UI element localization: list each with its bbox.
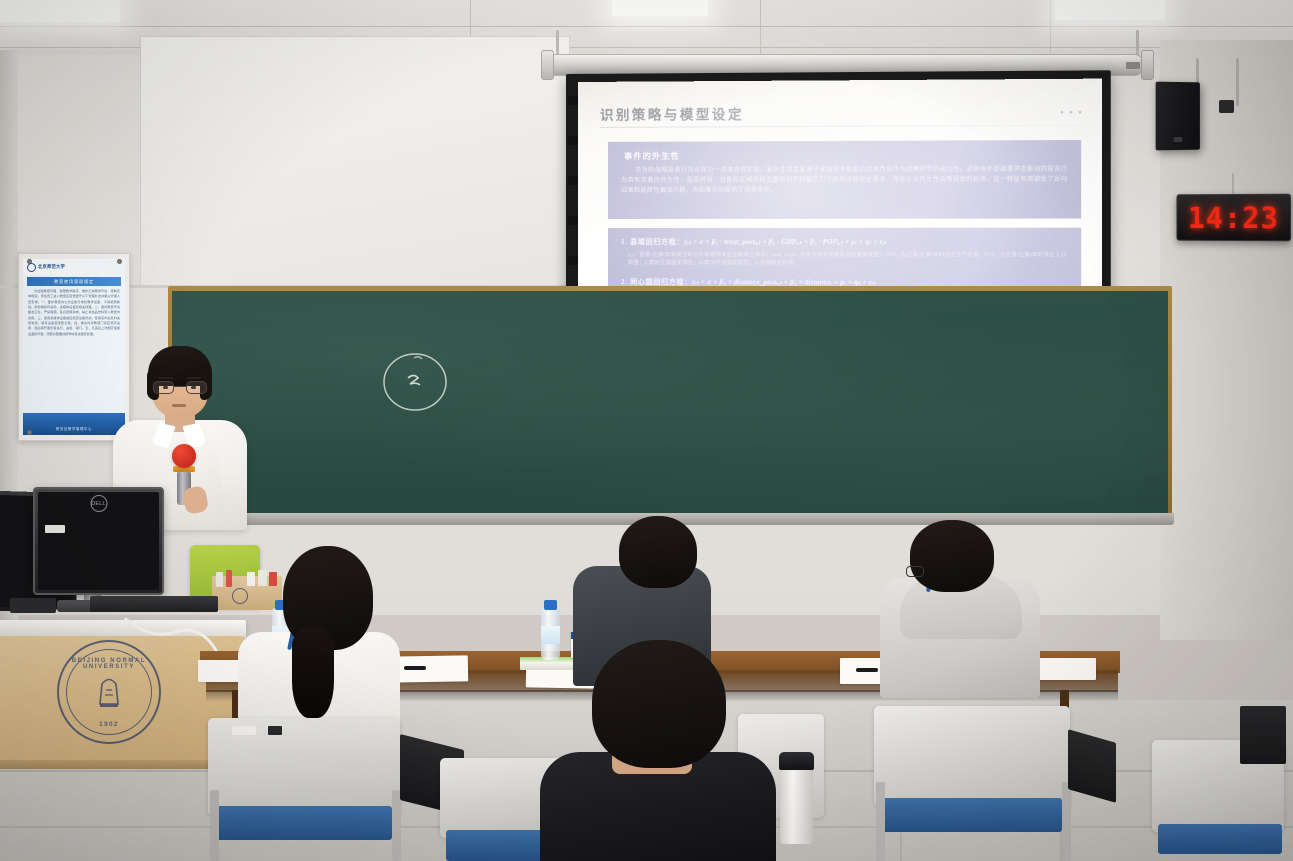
slide-panel-exogeneity: 事件的外生性 华为的战略投资行为可视为一次准自然实验，其外生性主要源于美国技术制… <box>608 140 1081 219</box>
judge-right-glasses-icon <box>906 566 924 577</box>
chair-leg <box>876 782 885 861</box>
microphone-head <box>172 444 196 468</box>
chalkboard <box>172 291 1168 513</box>
wall-clock: 14:23 <box>1176 194 1291 242</box>
panel-a-body: 华为的战略投资行为可视为一次准自然实验，其外生性主要源于美国技术制裁的突发性和华… <box>608 160 1081 196</box>
marker <box>247 572 255 586</box>
equation-1-note: yᵢₜ：县县i在第t年新成立的芯片制造相关企业新成立情况；post_treatᵢ… <box>608 247 1081 268</box>
roller-bracket <box>556 30 559 56</box>
monitor-sticker <box>45 525 65 533</box>
marker <box>226 570 232 587</box>
presenter-glasses <box>153 381 207 394</box>
poster-screw <box>117 259 122 264</box>
bottle-cap <box>544 600 557 610</box>
marker <box>269 572 277 586</box>
title-divider <box>600 125 1085 128</box>
seal-bell-icon <box>92 674 126 710</box>
mouse-pad <box>10 598 56 613</box>
equation-2-line: 2. 同心圆回归方程：yᵢₜ = α + β₁ × distance_postᵢ… <box>608 268 1081 288</box>
speaker-cable <box>1236 58 1239 106</box>
roller-label <box>1126 62 1140 69</box>
poster-footer-text: 教务处教学管理中心 <box>56 426 92 431</box>
slide-title: 识别策略与模型设定 <box>600 101 1085 124</box>
clock-wire <box>1232 173 1234 195</box>
chair-leg <box>392 790 401 861</box>
chair-cushion <box>1158 824 1282 854</box>
poster-logo-row: 北京师范大学 <box>23 259 125 275</box>
student-head <box>592 640 726 768</box>
paper-sheet <box>390 655 468 682</box>
poster-footer: 教务处教学管理中心 <box>23 413 125 435</box>
judge-right-head <box>910 520 994 592</box>
poster-body: 为加强教室管理，保障教学秩序，维护正常教学环境，特制定本规定。师生员工进入教室应… <box>23 286 125 337</box>
equation-1-formula: yᵢₜ = α + β₁ · treat_postᵢ,ₜ + β₂ · GDPᵢ… <box>684 238 886 246</box>
chair-sticker <box>232 726 256 735</box>
poster-logo-text: 北京师范大学 <box>38 264 65 270</box>
ceiling-light <box>1055 0 1165 20</box>
poster-banner: 教室使用管理规定 <box>27 277 121 286</box>
poster-screw <box>27 259 32 264</box>
ceiling-light <box>612 0 708 16</box>
chair-leg <box>1062 782 1071 861</box>
chair-tablet-arm[interactable] <box>1240 706 1286 764</box>
chalkboard-drawing <box>378 348 452 413</box>
equation-1-label: 1. 县域回归方程： <box>621 238 684 246</box>
water-bottle <box>541 608 560 660</box>
upper-whiteboard <box>140 36 570 286</box>
main-monitor: DELL <box>33 487 164 595</box>
roller-bracket <box>1136 30 1139 56</box>
equation-2-label: 2. 同心圆回归方程： <box>621 278 692 286</box>
speaker-badge <box>1174 137 1183 142</box>
pen <box>856 668 878 672</box>
clock-time: 14:23 <box>1188 200 1279 234</box>
poster-banner-text: 教室使用管理规定 <box>54 279 94 285</box>
roller-cap-left <box>541 50 554 80</box>
wall-speaker <box>1156 82 1200 151</box>
chair-back <box>874 706 1070 806</box>
ceiling-light <box>0 0 120 22</box>
roller-cap-right <box>1141 50 1154 80</box>
wall-poster: 北京师范大学 教室使用管理规定 为加强教室管理，保障教学秩序，维护正常教学环境，… <box>23 259 125 435</box>
poster-screw <box>27 430 32 435</box>
chair-cushion <box>216 806 392 840</box>
panel-a-heading: 事件的外生性 <box>608 140 1081 162</box>
wall-junction-box <box>1219 100 1234 113</box>
paper-sheet <box>1034 658 1096 680</box>
equation-1-line: 1. 县域回归方程：yᵢₜ = α + β₁ · treat_postᵢ,ₜ +… <box>608 228 1081 247</box>
marker <box>258 570 267 586</box>
dell-logo-icon: DELL <box>90 495 107 512</box>
presenter-mouth <box>172 404 186 407</box>
tumbler-cup <box>780 760 813 844</box>
chair-cushion <box>882 798 1062 832</box>
tumbler-lid <box>779 752 814 770</box>
chair-sticker <box>268 726 282 735</box>
marker <box>216 572 223 587</box>
judge-left-ponytail <box>292 626 334 718</box>
seal-year: 1902 <box>67 721 151 728</box>
slide-corner-dots: • • • <box>1060 107 1083 117</box>
pen <box>404 666 426 670</box>
judge-center-head <box>619 516 697 588</box>
chair-leg <box>210 790 219 861</box>
classroom-scene: 14:23 识别策略与模型设定 • • • 事件的外生性 华为的战略投资行为可视… <box>0 0 1293 861</box>
tray-seal-icon <box>232 588 248 604</box>
